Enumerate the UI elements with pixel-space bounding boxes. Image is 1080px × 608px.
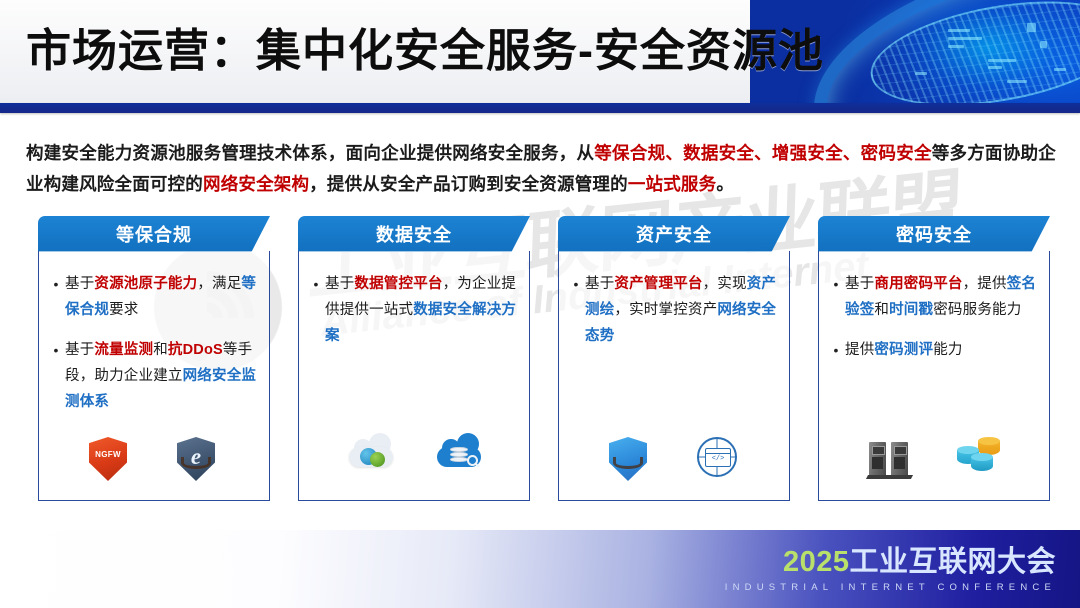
card-body: • 基于资产管理平台，实现资产测绘，实时掌控资产网络安全态势 </> <box>558 251 790 501</box>
ngfw-shield-label: NGFW <box>89 450 127 459</box>
conference-logo: 2025工业互联网大会 INDUSTRIAL INTERNET CONFEREN… <box>725 548 1056 593</box>
card-header-banner: 等保合规 <box>38 216 270 252</box>
card-body: • 基于商用密码平台，提供签名验签和时间戳密码服务能力 • 提供密码测评能力 <box>818 251 1050 501</box>
database-stack-icon <box>957 437 999 483</box>
cloud-database-search-icon <box>437 437 479 483</box>
list-item: • 基于资产管理平台，实现资产测绘，实时掌控资产网络安全态势 <box>567 271 779 349</box>
list-item: • 基于资源池原子能力，满足等保合规要求 <box>47 271 259 323</box>
list-item: • 提供密码测评能力 <box>827 337 1039 363</box>
bullet-marker: • <box>47 337 65 415</box>
card-icon-row: NGFW e <box>39 436 269 484</box>
slide-footer: 2025工业互联网大会 INDUSTRIAL INTERNET CONFEREN… <box>0 530 1080 608</box>
list-item: • 基于流量监测和抗DDoS等手段，助力企业建立网络安全监测体系 <box>47 337 259 415</box>
ie-shield-icon: e <box>177 437 219 483</box>
server-rack-icon <box>869 437 911 483</box>
bullet-text: 基于数据管控平台，为企业提供提供一站式数据安全解决方案 <box>325 271 519 349</box>
bullet-text: 基于资源池原子能力，满足等保合规要求 <box>65 271 259 323</box>
summary-text: 构建安全能力资源池服务管理技术体系，面向企业提供网络安全服务，从 <box>26 143 594 163</box>
service-card-row: 等保合规 • 基于资源池原子能力，满足等保合规要求 • 基于流量监测和抗DDoS… <box>0 216 1080 506</box>
card-body: • 基于数据管控平台，为企业提供提供一站式数据安全解决方案 <box>298 251 530 501</box>
blue-shield-icon <box>609 437 651 483</box>
list-item: • 基于商用密码平台，提供签名验签和时间戳密码服务能力 <box>827 271 1039 323</box>
summary-text: 。 <box>716 174 734 194</box>
summary-paragraph: 构建安全能力资源池服务管理技术体系，面向企业提供网络安全服务，从等保合规、数据安… <box>26 138 1056 200</box>
cloud-globe-icon <box>349 437 391 483</box>
bullet-text: 基于流量监测和抗DDoS等手段，助力企业建立网络安全监测体系 <box>65 337 259 415</box>
page-title: 市场运营：集中化安全服务-安全资源池 <box>26 12 824 90</box>
service-card-crypto-security[interactable]: 密码安全 • 基于商用密码平台，提供签名验签和时间戳密码服务能力 • 提供密码测… <box>818 216 1050 502</box>
bullet-marker: • <box>567 271 585 349</box>
service-card-data-security[interactable]: 数据安全 • 基于数据管控平台，为企业提供提供一站式数据安全解决方案 <box>298 216 530 502</box>
bullet-marker: • <box>827 271 845 323</box>
card-icon-row: </> <box>559 436 789 484</box>
card-title: 等保合规 <box>116 221 192 247</box>
conference-name-cn: 工业互联网大会 <box>849 546 1056 578</box>
conference-name-en: INDUSTRIAL INTERNET CONFERENCE <box>725 583 1056 593</box>
summary-highlight: 等保合规、数据安全、增强安全、密码安全 <box>594 143 931 163</box>
bullet-marker: • <box>47 271 65 323</box>
bullet-text: 基于商用密码平台，提供签名验签和时间戳密码服务能力 <box>845 271 1039 323</box>
summary-highlight: 网络安全架构 <box>203 174 309 194</box>
summary-text: ，提供从安全产品订购到安全资源管理的 <box>309 174 628 194</box>
globe-code-icon: </> <box>697 437 739 483</box>
conference-year: 2025 <box>783 546 850 578</box>
card-icon-row <box>819 436 1049 484</box>
card-header-banner: 资产安全 <box>558 216 790 252</box>
title-divider-rule <box>0 103 1080 113</box>
bullet-marker: • <box>827 337 845 363</box>
ngfw-shield-icon: NGFW <box>89 437 131 483</box>
card-header-banner: 数据安全 <box>298 216 530 252</box>
summary-highlight: 一站式服务 <box>628 174 717 194</box>
list-item: • 基于数据管控平台，为企业提供提供一站式数据安全解决方案 <box>307 271 519 349</box>
card-icon-row <box>299 436 529 484</box>
card-title: 密码安全 <box>896 221 972 247</box>
card-header-banner: 密码安全 <box>818 216 1050 252</box>
code-window-label: </> <box>706 455 730 463</box>
service-card-dengbao[interactable]: 等保合规 • 基于资源池原子能力，满足等保合规要求 • 基于流量监测和抗DDoS… <box>38 216 270 502</box>
slide-header: 市场运营：集中化安全服务-安全资源池 <box>0 0 1080 103</box>
bullet-text: 基于资产管理平台，实现资产测绘，实时掌控资产网络安全态势 <box>585 271 779 349</box>
bullet-marker: • <box>307 271 325 349</box>
bullet-text: 提供密码测评能力 <box>845 337 1039 363</box>
card-title: 资产安全 <box>636 221 712 247</box>
card-title: 数据安全 <box>376 221 452 247</box>
card-body: • 基于资源池原子能力，满足等保合规要求 • 基于流量监测和抗DDoS等手段，助… <box>38 251 270 501</box>
service-card-asset-security[interactable]: 资产安全 • 基于资产管理平台，实现资产测绘，实时掌控资产网络安全态势 </> <box>558 216 790 502</box>
